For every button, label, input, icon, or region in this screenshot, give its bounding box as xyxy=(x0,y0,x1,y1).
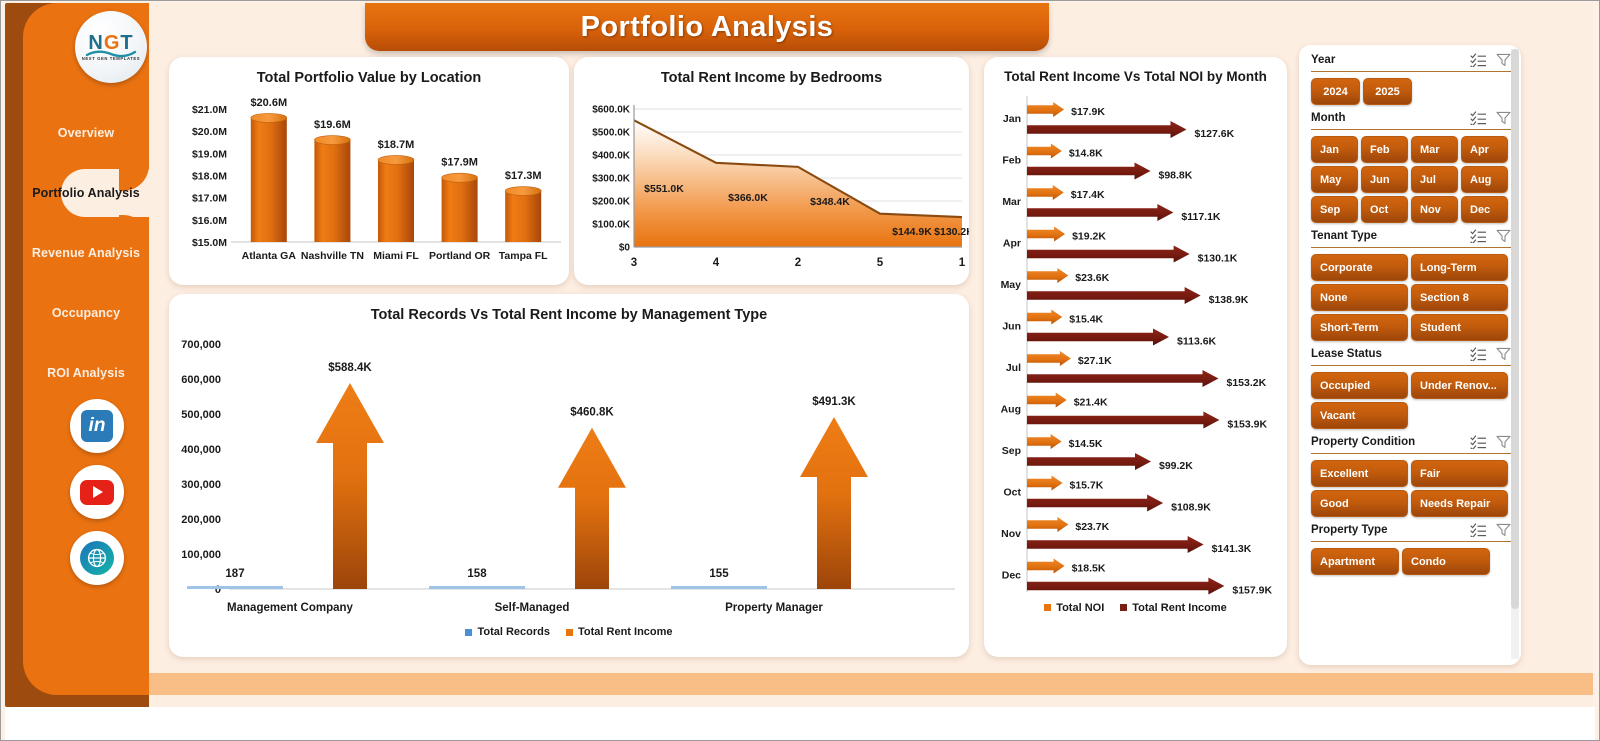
svg-text:$17.3M: $17.3M xyxy=(505,170,542,182)
sidebar: NGT NEXT GEN TEMPLATES Overview Portfoli… xyxy=(23,3,149,695)
svg-text:$348.4K: $348.4K xyxy=(810,196,850,208)
filter-chip-sep[interactable]: Sep xyxy=(1311,196,1358,223)
chart-card-rent-income-by-bedrooms: Total Rent Income by Bedrooms $600.0K$50… xyxy=(574,57,969,285)
svg-text:$19.6M: $19.6M xyxy=(314,119,351,131)
svg-text:$144.9K: $144.9K xyxy=(892,226,932,238)
svg-text:100,000: 100,000 xyxy=(181,549,221,561)
filter-chip-apr[interactable]: Apr xyxy=(1461,136,1508,163)
legend-label: Total Rent Income xyxy=(1132,602,1227,614)
brand-logo: NGT NEXT GEN TEMPLATES xyxy=(75,11,147,83)
filter-title: Tenant Type xyxy=(1311,230,1377,242)
svg-text:$17.0M: $17.0M xyxy=(192,193,227,205)
svg-text:$600.0K: $600.0K xyxy=(592,105,631,116)
chart-legend-management: Total Records Total Rent Income xyxy=(169,626,969,638)
multi-select-icon[interactable] xyxy=(1470,53,1487,67)
sidebar-item-label: Revenue Analysis xyxy=(32,246,140,260)
svg-text:Miami FL: Miami FL xyxy=(373,250,419,262)
filter-actions xyxy=(1470,229,1511,243)
svg-text:Jul: Jul xyxy=(1006,362,1021,374)
filter-chips-month: JanFebMarAprMayJunJulAugSepOctNovDec xyxy=(1311,136,1511,223)
svg-text:Nashville TN: Nashville TN xyxy=(301,250,364,262)
legend-label: Total Records xyxy=(477,626,550,638)
filter-title: Month xyxy=(1311,112,1345,124)
chart-card-rent-income-vs-noi-by-month: Total Rent Income Vs Total NOI by Month … xyxy=(984,57,1287,657)
filter-chip-short-term[interactable]: Short-Term xyxy=(1311,314,1408,341)
page-title: Portfolio Analysis xyxy=(581,11,834,44)
svg-text:400,000: 400,000 xyxy=(181,444,221,456)
svg-text:$15.0M: $15.0M xyxy=(192,237,227,249)
svg-text:$588.4K: $588.4K xyxy=(328,362,372,374)
filter-chip-good[interactable]: Good xyxy=(1311,490,1408,517)
filter-actions xyxy=(1470,53,1511,67)
chart-title: Total Rent Income Vs Total NOI by Month xyxy=(984,57,1287,86)
svg-text:$157.9K: $157.9K xyxy=(1232,584,1272,596)
filter-chip-none[interactable]: None xyxy=(1311,284,1408,311)
social-links: in xyxy=(70,399,124,597)
svg-text:$23.7K: $23.7K xyxy=(1075,521,1109,533)
svg-text:$366.0K: $366.0K xyxy=(728,192,768,204)
svg-text:$551.0K: $551.0K xyxy=(644,183,684,195)
svg-text:Sep: Sep xyxy=(1002,445,1021,457)
bar-chart-portfolio-value: $21.0M$20.0M$19.0M$18.0M$17.0M$16.0M$15.… xyxy=(169,87,569,277)
filter-panel-body: Year 20242025 Month xyxy=(1299,45,1521,665)
svg-text:$14.8K: $14.8K xyxy=(1069,147,1103,159)
filter-panel: Year 20242025 Month xyxy=(1299,45,1521,665)
svg-text:$15.4K: $15.4K xyxy=(1069,313,1103,325)
sidebar-nav: Overview Portfolio Analysis Revenue Anal… xyxy=(23,103,149,403)
filter-chip-corporate[interactable]: Corporate xyxy=(1311,254,1408,281)
svg-text:$16.0M: $16.0M xyxy=(192,215,227,227)
filter-chip-jan[interactable]: Jan xyxy=(1311,136,1358,163)
filter-chip-long-term[interactable]: Long-Term xyxy=(1411,254,1508,281)
svg-text:$200.0K: $200.0K xyxy=(592,197,631,208)
svg-text:1: 1 xyxy=(959,257,966,269)
clear-filter-icon[interactable] xyxy=(1496,435,1511,449)
svg-text:0: 0 xyxy=(215,584,221,596)
filter-chip-fair[interactable]: Fair xyxy=(1411,460,1508,487)
filter-header-property-type: Property Type xyxy=(1311,523,1511,537)
filter-chip-feb[interactable]: Feb xyxy=(1361,136,1408,163)
svg-text:$27.1K: $27.1K xyxy=(1078,355,1112,367)
chart-title: Total Rent Income by Bedrooms xyxy=(574,57,969,87)
svg-text:$21.0M: $21.0M xyxy=(192,104,227,116)
svg-text:$127.6K: $127.6K xyxy=(1195,128,1235,140)
svg-text:Self-Managed: Self-Managed xyxy=(495,602,570,614)
svg-text:$15.7K: $15.7K xyxy=(1070,479,1104,491)
svg-text:$23.6K: $23.6K xyxy=(1075,272,1109,284)
svg-text:Atlanta GA: Atlanta GA xyxy=(242,250,297,262)
clear-filter-icon[interactable] xyxy=(1496,53,1511,67)
chart-title: Total Records Vs Total Rent Income by Ma… xyxy=(169,294,969,324)
svg-text:$153.9K: $153.9K xyxy=(1227,418,1267,430)
svg-text:$100.0K: $100.0K xyxy=(592,220,631,231)
svg-text:$19.2K: $19.2K xyxy=(1072,230,1106,242)
svg-text:Portland OR: Portland OR xyxy=(429,250,491,262)
svg-text:$20.6M: $20.6M xyxy=(250,97,287,109)
legend-label: Total NOI xyxy=(1056,602,1104,614)
filter-chip-section-8[interactable]: Section 8 xyxy=(1411,284,1508,311)
svg-text:500,000: 500,000 xyxy=(181,409,221,421)
clear-filter-icon[interactable] xyxy=(1496,111,1511,125)
filter-chip-needs-repair[interactable]: Needs Repair xyxy=(1411,490,1508,517)
legend-label: Total Rent Income xyxy=(578,626,673,638)
legend-item: Total Records xyxy=(465,626,550,638)
youtube-icon xyxy=(80,480,114,505)
filter-header-property-condition: Property Condition xyxy=(1311,435,1511,449)
filter-chip-2025[interactable]: 2025 xyxy=(1363,78,1412,105)
svg-text:$17.9K: $17.9K xyxy=(1071,106,1105,118)
legend-item: Total Rent Income xyxy=(566,626,673,638)
svg-text:$130.2K: $130.2K xyxy=(934,226,969,238)
svg-text:Apr: Apr xyxy=(1003,237,1021,249)
svg-text:Property Manager: Property Manager xyxy=(725,602,823,614)
page-header: Portfolio Analysis xyxy=(365,3,1049,51)
filter-header-lease-status: Lease Status xyxy=(1311,347,1511,361)
filter-title: Property Type xyxy=(1311,524,1387,536)
sidebar-item-occupancy[interactable]: Occupancy xyxy=(23,283,149,343)
sidebar-item-roi-analysis[interactable]: ROI Analysis xyxy=(23,343,149,403)
svg-text:$108.9K: $108.9K xyxy=(1171,501,1211,513)
bottom-white-strip xyxy=(5,707,1595,740)
svg-text:$17.9M: $17.9M xyxy=(441,157,478,169)
legend-item: Total Rent Income xyxy=(1120,602,1227,614)
filter-title: Year xyxy=(1311,54,1335,66)
filter-chip-jun[interactable]: Jun xyxy=(1361,166,1408,193)
chart-card-portfolio-value-by-location: Total Portfolio Value by Location $21.0M… xyxy=(169,57,569,285)
svg-text:$153.2K: $153.2K xyxy=(1227,377,1267,389)
svg-text:$141.3K: $141.3K xyxy=(1212,543,1252,555)
svg-text:$138.9K: $138.9K xyxy=(1209,294,1249,306)
website-button[interactable] xyxy=(70,531,124,585)
legend-item: Total NOI xyxy=(1044,602,1104,614)
svg-text:$18.0M: $18.0M xyxy=(192,171,227,183)
sidebar-item-label: Portfolio Analysis xyxy=(32,186,140,200)
globe-icon xyxy=(80,541,114,575)
filter-divider xyxy=(1311,541,1511,542)
svg-text:$99.2K: $99.2K xyxy=(1159,460,1193,472)
filter-divider xyxy=(1311,71,1511,72)
dashboard-page: NGT NEXT GEN TEMPLATES Overview Portfoli… xyxy=(0,0,1600,741)
svg-text:155: 155 xyxy=(709,568,729,580)
svg-text:Tampa FL: Tampa FL xyxy=(499,250,548,262)
filter-chip-under-renov[interactable]: Under Renov... xyxy=(1411,372,1508,399)
svg-text:Oct: Oct xyxy=(1003,486,1021,498)
legend-swatch-total-noi xyxy=(1044,604,1051,611)
filter-chip-excellent[interactable]: Excellent xyxy=(1311,460,1408,487)
filter-chips-property-type: ApartmentCondo xyxy=(1311,548,1511,575)
bottom-accent-band xyxy=(149,673,1593,695)
filter-actions xyxy=(1470,111,1511,125)
filter-chip-apartment[interactable]: Apartment xyxy=(1311,548,1399,575)
filter-actions xyxy=(1470,523,1511,537)
svg-text:$20.0M: $20.0M xyxy=(192,126,227,138)
svg-text:$500.0K: $500.0K xyxy=(592,128,631,139)
legend-swatch-total-rent-income xyxy=(1120,604,1127,611)
svg-text:May: May xyxy=(1001,279,1022,291)
linkedin-icon: in xyxy=(81,410,113,442)
filter-divider xyxy=(1311,453,1511,454)
svg-text:$130.1K: $130.1K xyxy=(1198,252,1238,264)
multi-select-icon[interactable] xyxy=(1470,229,1487,243)
filter-title: Property Condition xyxy=(1311,436,1415,448)
svg-text:5: 5 xyxy=(877,257,884,269)
svg-text:$400.0K: $400.0K xyxy=(592,151,631,162)
filter-chip-student[interactable]: Student xyxy=(1411,314,1508,341)
filter-chip-jul[interactable]: Jul xyxy=(1411,166,1458,193)
filter-chip-2024[interactable]: 2024 xyxy=(1311,78,1360,105)
filter-header-year: Year xyxy=(1311,53,1511,67)
filter-panel-fade xyxy=(1299,651,1521,665)
legend-swatch-total-records xyxy=(465,629,472,636)
clear-filter-icon[interactable] xyxy=(1496,523,1511,537)
area-chart-rent-income-by-bedrooms: $600.0K$500.0K$400.0K$300.0K$200.0K$100.… xyxy=(574,87,969,277)
filter-actions xyxy=(1470,435,1511,449)
filter-divider xyxy=(1311,247,1511,248)
svg-text:Feb: Feb xyxy=(1002,154,1021,166)
svg-text:$19.0M: $19.0M xyxy=(192,148,227,160)
svg-text:Dec: Dec xyxy=(1002,569,1021,581)
svg-text:300,000: 300,000 xyxy=(181,479,221,491)
filter-chip-occupied[interactable]: Occupied xyxy=(1311,372,1408,399)
svg-text:$491.3K: $491.3K xyxy=(812,396,856,408)
svg-text:$21.4K: $21.4K xyxy=(1074,396,1108,408)
svg-text:2: 2 xyxy=(795,257,801,269)
filter-chips-property-condition: ExcellentFairGoodNeeds Repair xyxy=(1311,460,1511,517)
svg-text:$300.0K: $300.0K xyxy=(592,174,631,185)
filter-chips-tenant-type: CorporateLong-TermNoneSection 8Short-Ter… xyxy=(1311,254,1511,341)
filter-chip-oct[interactable]: Oct xyxy=(1361,196,1408,223)
svg-text:Jun: Jun xyxy=(1002,320,1021,332)
svg-text:200,000: 200,000 xyxy=(181,514,221,526)
filter-chip-aug[interactable]: Aug xyxy=(1461,166,1508,193)
svg-text:$117.1K: $117.1K xyxy=(1181,211,1221,223)
youtube-button[interactable] xyxy=(70,465,124,519)
svg-text:4: 4 xyxy=(713,257,720,269)
sidebar-item-overview[interactable]: Overview xyxy=(23,103,149,163)
svg-text:$17.4K: $17.4K xyxy=(1071,189,1105,201)
filter-chip-nov[interactable]: Nov xyxy=(1411,196,1458,223)
filter-scrollbar-thumb[interactable] xyxy=(1511,49,1519,609)
svg-text:Nov: Nov xyxy=(1001,528,1021,540)
svg-text:$113.6K: $113.6K xyxy=(1177,335,1217,347)
clear-filter-icon[interactable] xyxy=(1496,229,1511,243)
filter-chip-vacant[interactable]: Vacant xyxy=(1311,402,1408,429)
svg-text:Mar: Mar xyxy=(1002,196,1021,208)
svg-text:Aug: Aug xyxy=(1001,403,1021,415)
sidebar-item-label: Overview xyxy=(58,126,114,140)
filter-chip-dec[interactable]: Dec xyxy=(1461,196,1508,223)
filter-header-month: Month xyxy=(1311,111,1511,125)
filter-chip-condo[interactable]: Condo xyxy=(1402,548,1490,575)
sidebar-item-label: ROI Analysis xyxy=(47,366,125,380)
svg-text:158: 158 xyxy=(467,568,487,580)
legend-swatch-total-rent-income xyxy=(566,629,573,636)
svg-text:$460.8K: $460.8K xyxy=(570,407,614,419)
clear-filter-icon[interactable] xyxy=(1496,347,1511,361)
sidebar-item-label: Occupancy xyxy=(52,306,120,320)
svg-text:Jan: Jan xyxy=(1003,113,1021,125)
svg-text:$0: $0 xyxy=(619,243,631,254)
filter-chip-may[interactable]: May xyxy=(1311,166,1358,193)
svg-text:600,000: 600,000 xyxy=(181,374,221,386)
multi-select-icon[interactable] xyxy=(1470,523,1487,537)
svg-text:3: 3 xyxy=(631,257,637,269)
svg-text:700,000: 700,000 xyxy=(181,339,221,351)
multi-select-icon[interactable] xyxy=(1470,111,1487,125)
svg-text:$14.5K: $14.5K xyxy=(1069,438,1103,450)
filter-chips-year: 20242025 xyxy=(1311,78,1511,105)
multi-select-icon[interactable] xyxy=(1470,347,1487,361)
multi-select-icon[interactable] xyxy=(1470,435,1487,449)
logo-wave-icon xyxy=(85,49,137,58)
linkedin-button[interactable]: in xyxy=(70,399,124,453)
filter-divider xyxy=(1311,129,1511,130)
svg-text:$18.5K: $18.5K xyxy=(1072,562,1106,574)
arrow-column-chart-management-type: 700,000600,000500,000400,000300,000200,0… xyxy=(169,324,969,624)
filter-chip-mar[interactable]: Mar xyxy=(1411,136,1458,163)
svg-text:Management Company: Management Company xyxy=(227,602,353,614)
chart-legend-monthly: Total NOI Total Rent Income xyxy=(984,602,1287,614)
filter-header-tenant-type: Tenant Type xyxy=(1311,229,1511,243)
filter-chips-lease-status: OccupiedUnder Renov...Vacant xyxy=(1311,372,1511,429)
arrow-bar-chart-monthly: Jan$17.9K$127.6KFeb$14.8K$98.8KMar$17.4K… xyxy=(984,86,1287,606)
svg-text:187: 187 xyxy=(225,568,244,580)
filter-actions xyxy=(1470,347,1511,361)
filter-divider xyxy=(1311,365,1511,366)
svg-text:$18.7M: $18.7M xyxy=(378,139,415,151)
filter-title: Lease Status xyxy=(1311,348,1382,360)
svg-text:$98.8K: $98.8K xyxy=(1159,169,1193,181)
chart-title: Total Portfolio Value by Location xyxy=(169,57,569,87)
chart-card-records-vs-rent-income: Total Records Vs Total Rent Income by Ma… xyxy=(169,294,969,657)
